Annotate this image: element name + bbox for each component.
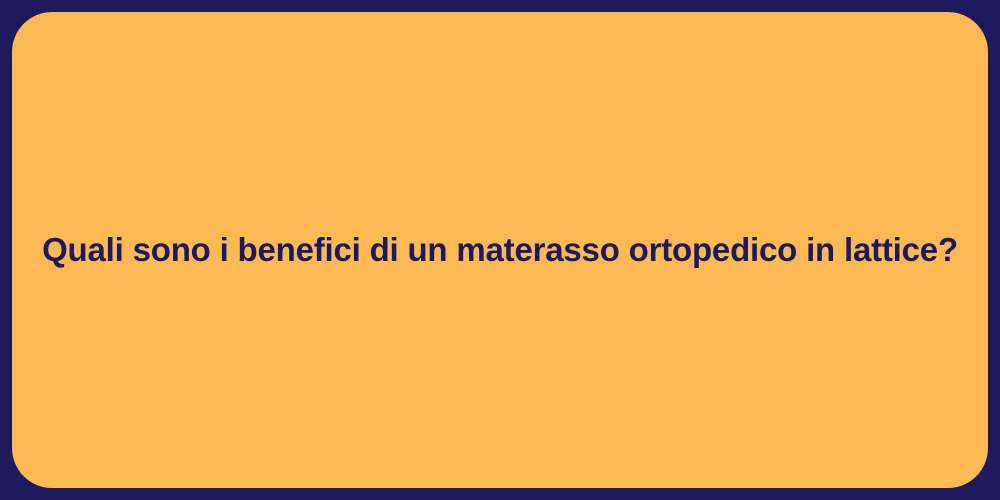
question-heading: Quali sono i benefici di un materasso or… bbox=[42, 229, 958, 270]
question-card: Quali sono i benefici di un materasso or… bbox=[0, 0, 1000, 500]
card-panel: Quali sono i benefici di un materasso or… bbox=[12, 12, 988, 488]
